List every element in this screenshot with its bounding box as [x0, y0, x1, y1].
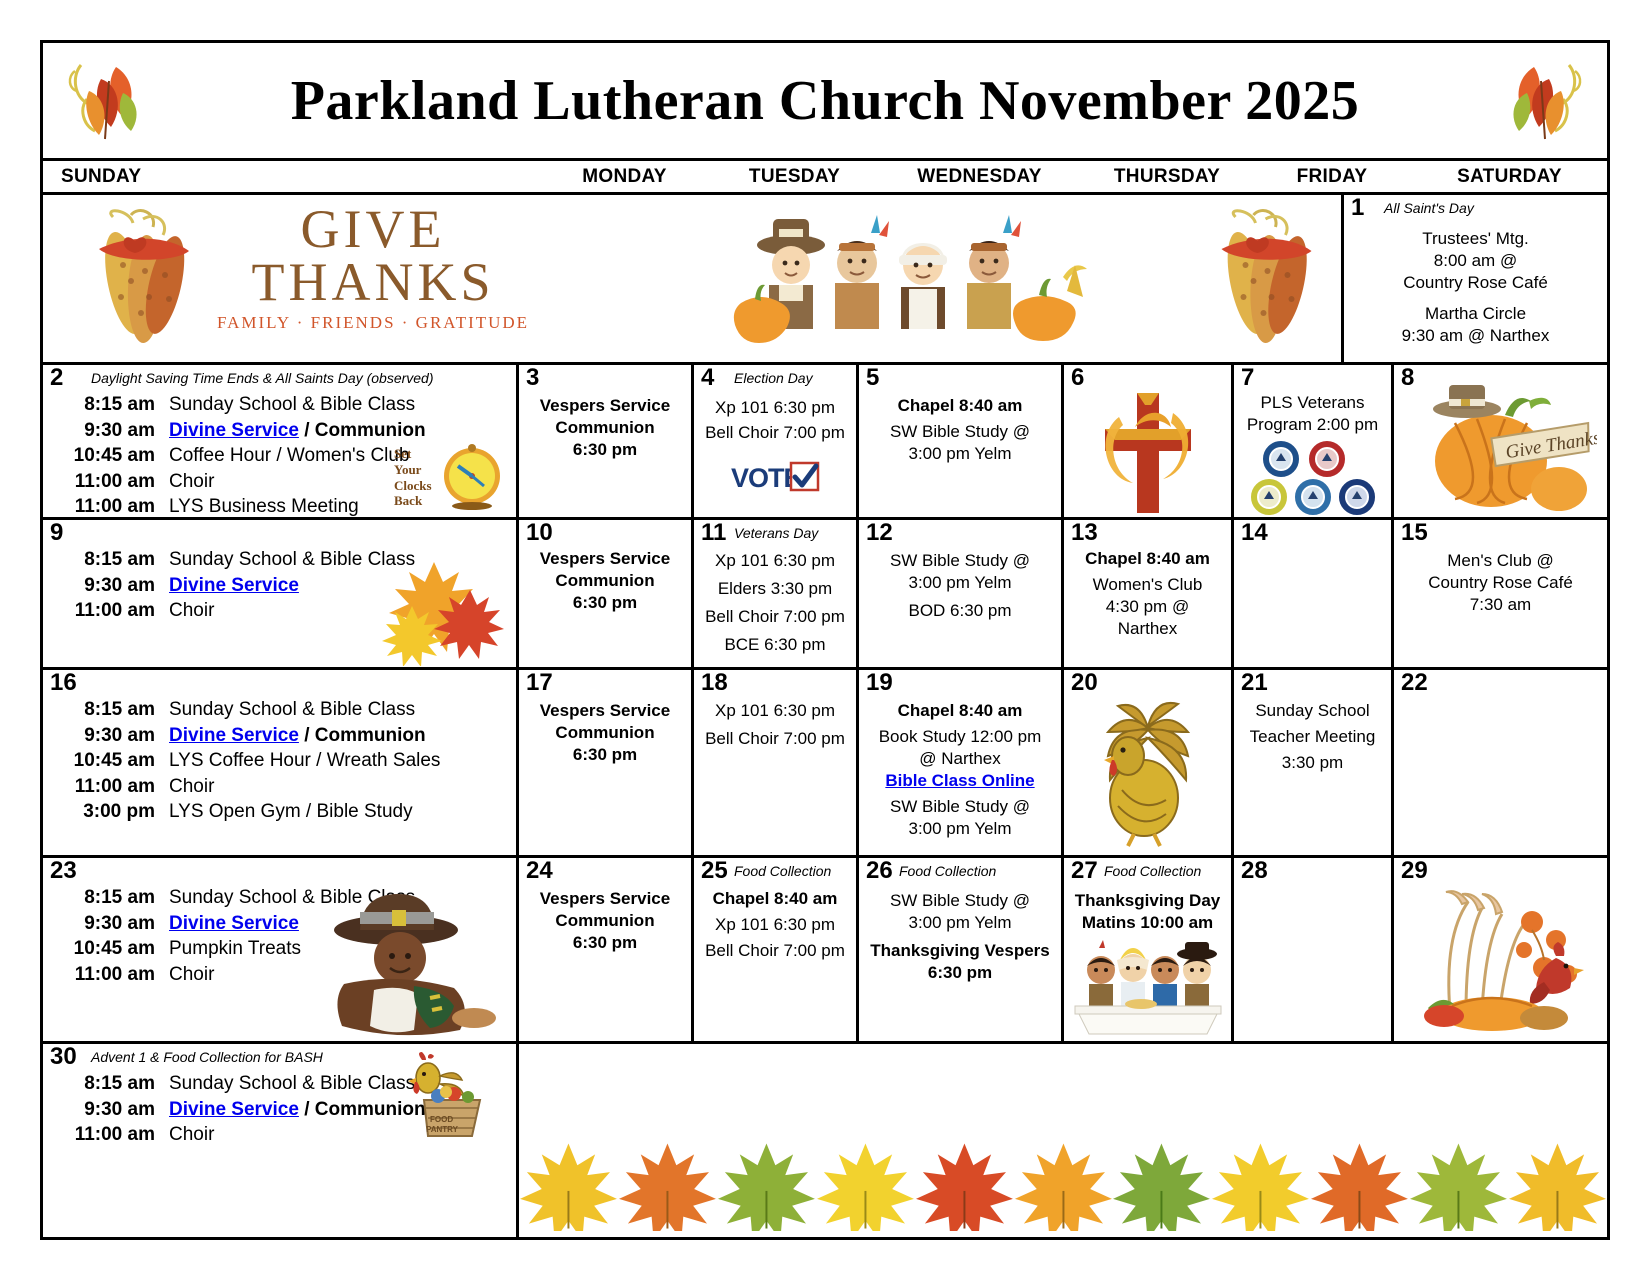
- weekday-header-thursday: THURSDAY: [1082, 161, 1252, 192]
- event-text: 3:00 pm Yelm: [859, 818, 1061, 841]
- day-cell-15[interactable]: 15 Men's Club @ Country Rose Café 7:30 a…: [1394, 520, 1607, 667]
- svg-text:Give Thanks: Give Thanks: [1504, 427, 1597, 463]
- event-text: Narthex: [1064, 618, 1231, 641]
- event-text: BOD 6:30 pm: [859, 600, 1061, 623]
- day-note: Daylight Saving Time Ends & All Saints D…: [91, 370, 434, 386]
- schedule-desc: LYS Coffee Hour / Wreath Sales: [169, 749, 508, 774]
- give-thanks-banner: GIVE THANKS FAMILY · FRIENDS · GRATITUDE: [208, 203, 538, 333]
- event-text: Xp 101 6:30 pm: [694, 550, 856, 573]
- divine-service-link[interactable]: Divine Service: [169, 1099, 299, 1120]
- indian-corn-icon: [83, 205, 203, 360]
- day-number: 23: [50, 859, 77, 883]
- day-note: Food Collection: [734, 863, 831, 879]
- day-schedule: 8:15 am Sunday School & Bible Class 9:30…: [43, 393, 516, 517]
- week-row: 23 8:15 am Sunday School & Bible Class 9…: [43, 858, 1607, 1044]
- day-number: 21: [1241, 671, 1268, 695]
- schedule-time: 8:15 am: [51, 548, 169, 573]
- event-text: 3:30 pm: [1234, 752, 1391, 775]
- day-cell-18[interactable]: 18 Xp 101 6:30 pm Bell Choir 7:00 pm: [694, 670, 859, 855]
- divine-service-link[interactable]: Divine Service: [169, 420, 299, 441]
- event-text: SW Bible Study @: [859, 890, 1061, 913]
- weekday-header-tuesday: TUESDAY: [712, 161, 877, 192]
- pilgrims-and-natives-icon: [733, 203, 1113, 362]
- weekday-header-friday: FRIDAY: [1252, 161, 1412, 192]
- day-number: 26: [866, 859, 893, 883]
- event-text: Vespers Service: [519, 700, 691, 723]
- bible-class-online-link[interactable]: Bible Class Online: [885, 771, 1034, 790]
- day-cell-23[interactable]: 23 8:15 am Sunday School & Bible Class 9…: [43, 858, 519, 1041]
- day-cell-6[interactable]: 6: [1064, 365, 1234, 517]
- banner-line-1: GIVE: [208, 203, 538, 256]
- schedule-time: 11:00 am: [51, 495, 169, 517]
- event-text: 6:30 pm: [519, 439, 691, 462]
- turkey-icon: [1088, 698, 1208, 853]
- event-text: SW Bible Study @: [859, 796, 1061, 819]
- event-text: Elders 3:30 pm: [694, 578, 856, 601]
- event-text: 6:30 pm: [519, 932, 691, 955]
- schedule-desc: LYS Open Gym / Bible Study: [169, 800, 508, 825]
- schedule-time: 11:00 am: [51, 599, 169, 624]
- give-thanks-banner-cell: GIVE THANKS FAMILY · FRIENDS · GRATITUDE: [43, 195, 1344, 362]
- schedule-time: 9:30 am: [51, 724, 169, 749]
- day-cell-5[interactable]: 5 Chapel 8:40 am SW Bible Study @ 3:00 p…: [859, 365, 1064, 517]
- schedule-row: 8:15 am Sunday School & Bible Class: [51, 548, 508, 573]
- event-text: @ Narthex: [859, 748, 1061, 771]
- event-text: Communion: [519, 570, 691, 593]
- weekday-header-sunday: SUNDAY: [43, 161, 537, 192]
- week-row: GIVE THANKS FAMILY · FRIENDS · GRATITUDE: [43, 195, 1607, 365]
- event-text: Vespers Service: [519, 395, 691, 418]
- day-schedule: 8:15 am Sunday School & Bible Class 9:30…: [43, 1072, 516, 1149]
- schedule-time: 10:45 am: [51, 937, 169, 962]
- schedule-suffix: / Communion: [299, 1099, 426, 1120]
- event-text: Thanksgiving Vespers: [859, 940, 1061, 963]
- event-text: 3:00 pm Yelm: [859, 443, 1061, 466]
- day-cell-21[interactable]: 21 Sunday School Teacher Meeting 3:30 pm: [1234, 670, 1394, 855]
- day-number: 12: [866, 521, 893, 545]
- day-cell-9[interactable]: 9 8:15 am Sunday School & Bible Class 9:…: [43, 520, 519, 667]
- schedule-desc: LYS Business Meeting: [169, 495, 508, 517]
- day-number: 25: [701, 859, 728, 883]
- schedule-time: 9:30 am: [51, 419, 169, 444]
- svg-text:VOTE: VOTE: [731, 463, 801, 493]
- schedule-time: 8:15 am: [51, 1072, 169, 1097]
- event-text: Martha Circle: [1344, 303, 1607, 326]
- schedule-desc: Coffee Hour / Women's Club: [169, 444, 508, 469]
- day-number: 8: [1401, 366, 1414, 390]
- event-text: Teacher Meeting: [1234, 726, 1391, 749]
- event-text: SW Bible Study @: [859, 421, 1061, 444]
- leaf-strip: [519, 1139, 1607, 1231]
- event-text: 8:00 am @: [1344, 250, 1607, 273]
- schedule-desc: Divine Service: [169, 574, 508, 599]
- day-cell-12[interactable]: 12 SW Bible Study @ 3:00 pm Yelm BOD 6:3…: [859, 520, 1064, 667]
- divine-service-link[interactable]: Divine Service: [169, 575, 299, 596]
- indian-corn-icon: [1203, 205, 1328, 360]
- day-number: 3: [526, 366, 539, 390]
- schedule-row: 9:30 am Divine Service: [51, 912, 508, 937]
- event-text: Communion: [519, 910, 691, 933]
- day-number: 28: [1241, 859, 1268, 883]
- week-row: 2 Daylight Saving Time Ends & All Saints…: [43, 365, 1607, 520]
- autumn-leaves-decoration-icon: [1479, 47, 1589, 155]
- day-cell-19[interactable]: 19 Chapel 8:40 am Book Study 12:00 pm @ …: [859, 670, 1064, 855]
- schedule-row: 11:00 am Choir: [51, 963, 508, 988]
- day-number: 10: [526, 521, 553, 545]
- schedule-time: 8:15 am: [51, 393, 169, 418]
- event-text: SW Bible Study @: [859, 550, 1061, 573]
- schedule-desc: Sunday School & Bible Class: [169, 886, 508, 911]
- event-text: 4:30 pm @: [1064, 596, 1231, 619]
- schedule-row: 9:30 am Divine Service: [51, 574, 508, 599]
- day-number: 18: [701, 671, 728, 695]
- event-text: Book Study 12:00 pm: [859, 726, 1061, 749]
- schedule-desc: Sunday School & Bible Class: [169, 393, 508, 418]
- schedule-desc: Sunday School & Bible Class: [169, 1072, 508, 1097]
- divine-service-link[interactable]: Divine Service: [169, 913, 299, 934]
- schedule-row: 11:00 am LYS Business Meeting: [51, 495, 508, 517]
- day-cell-25[interactable]: 25 Food Collection Chapel 8:40 am Xp 101…: [694, 858, 859, 1041]
- event-text: Chapel 8:40 am: [859, 700, 1061, 723]
- day-cell-3[interactable]: 3 Vespers Service Communion 6:30 pm: [519, 365, 694, 517]
- day-note: Veterans Day: [734, 525, 818, 541]
- schedule-desc: Pumpkin Treats: [169, 937, 508, 962]
- event-text: PLS Veterans: [1234, 392, 1391, 415]
- schedule-row: 9:30 am Divine Service / Communion: [51, 1098, 508, 1123]
- day-number: 20: [1071, 671, 1098, 695]
- schedule-desc: Divine Service / Communion: [169, 419, 508, 444]
- day-cell-8[interactable]: 8: [1394, 365, 1607, 517]
- schedule-time: 3:00 pm: [51, 800, 169, 825]
- day-number: 7: [1241, 366, 1254, 390]
- event-text: Communion: [519, 722, 691, 745]
- event-text: 6:30 pm: [519, 744, 691, 767]
- schedule-desc: Sunday School & Bible Class: [169, 548, 508, 573]
- banner-line-2: THANKS: [208, 256, 538, 309]
- day-number: 5: [866, 366, 879, 390]
- schedule-row: 9:30 am Divine Service / Communion: [51, 724, 508, 749]
- schedule-desc: Divine Service / Communion: [169, 1098, 508, 1123]
- event-text: Communion: [519, 417, 691, 440]
- cornucopia-cardinal-icon: [1406, 882, 1596, 1037]
- schedule-time: 8:15 am: [51, 698, 169, 723]
- schedule-time: 11:00 am: [51, 963, 169, 988]
- schedule-row: 9:30 am Divine Service / Communion: [51, 419, 508, 444]
- schedule-suffix: / Communion: [299, 725, 426, 746]
- schedule-row: 8:15 am Sunday School & Bible Class: [51, 886, 508, 911]
- calendar-title-bar: Parkland Lutheran Church November 2025: [43, 43, 1607, 161]
- event-text: Chapel 8:40 am: [694, 888, 856, 911]
- day-cell-7[interactable]: 7 PLS Veterans Program 2:00 pm: [1234, 365, 1394, 517]
- schedule-time: 8:15 am: [51, 886, 169, 911]
- day-cell-14[interactable]: 14: [1234, 520, 1394, 667]
- schedule-row: 8:15 am Sunday School & Bible Class: [51, 393, 508, 418]
- autumn-leaves-footer-strip: [519, 1044, 1607, 1237]
- day-cell-20[interactable]: 20: [1064, 670, 1234, 855]
- day-cell-27[interactable]: 27 Food Collection Thanksgiving Day Mati…: [1064, 858, 1234, 1041]
- event-text: BCE 6:30 pm: [694, 634, 856, 657]
- day-number: 1: [1351, 196, 1364, 220]
- schedule-desc: Divine Service: [169, 912, 508, 937]
- week-row: 16 8:15 am Sunday School & Bible Class 9…: [43, 670, 1607, 858]
- event-text: Bell Choir 7:00 pm: [694, 940, 856, 963]
- event-text: Xp 101 6:30 pm: [694, 914, 856, 937]
- day-number: 14: [1241, 521, 1268, 545]
- schedule-desc: Choir: [169, 1123, 508, 1148]
- day-cell-10[interactable]: 10 Vespers Service Communion 6:30 pm: [519, 520, 694, 667]
- day-number: 9: [50, 521, 63, 545]
- schedule-row: 11:00 am Choir: [51, 599, 508, 624]
- event-text: Chapel 8:40 am: [859, 395, 1061, 418]
- calendar-page: Parkland Lutheran Church November 2025 S…: [0, 0, 1650, 1275]
- day-cell-22[interactable]: 22: [1394, 670, 1607, 855]
- day-number: 4: [701, 366, 714, 390]
- schedule-row: 11:00 am Choir: [51, 775, 508, 800]
- event-text: 6:30 pm: [859, 962, 1061, 985]
- schedule-desc: Sunday School & Bible Class: [169, 698, 508, 723]
- day-note: Election Day: [734, 370, 813, 386]
- schedule-desc: Divine Service / Communion: [169, 724, 508, 749]
- day-number: 22: [1401, 671, 1428, 695]
- schedule-time: 9:30 am: [51, 574, 169, 599]
- schedule-row: 10:45 am LYS Coffee Hour / Wreath Sales: [51, 749, 508, 774]
- schedule-time: 11:00 am: [51, 1123, 169, 1148]
- thanksgiving-table-icon: [1073, 940, 1223, 1041]
- weekday-header-monday: MONDAY: [537, 161, 712, 192]
- day-note: Food Collection: [899, 863, 996, 879]
- military-seals-icon: [1247, 439, 1379, 517]
- day-number: 15: [1401, 521, 1428, 545]
- divine-service-link[interactable]: Divine Service: [169, 725, 299, 746]
- day-cell-11[interactable]: 11 Veterans Day Xp 101 6:30 pm Elders 3:…: [694, 520, 859, 667]
- schedule-desc: Choir: [169, 775, 508, 800]
- day-number: 6: [1071, 366, 1084, 390]
- autumn-leaves-decoration-icon: [61, 47, 171, 155]
- calendar: Parkland Lutheran Church November 2025 S…: [40, 40, 1610, 1240]
- day-cell-24[interactable]: 24 Vespers Service Communion 6:30 pm: [519, 858, 694, 1041]
- schedule-suffix: / Communion: [299, 420, 426, 441]
- schedule-desc: Choir: [169, 599, 508, 624]
- schedule-time: 11:00 am: [51, 775, 169, 800]
- day-cell-1[interactable]: 1 All Saint's Day Trustees' Mtg. 8:00 am…: [1344, 195, 1607, 362]
- bible-class-online-link-row: Bible Class Online: [859, 770, 1061, 793]
- schedule-time: 11:00 am: [51, 470, 169, 495]
- event-text: 3:00 pm Yelm: [859, 572, 1061, 595]
- week-row: 9 8:15 am Sunday School & Bible Class 9:…: [43, 520, 1607, 670]
- schedule-time: 9:30 am: [51, 912, 169, 937]
- event-text: 3:00 pm Yelm: [859, 912, 1061, 935]
- event-text: Vespers Service: [519, 888, 691, 911]
- schedule-row: 10:45 am Pumpkin Treats: [51, 937, 508, 962]
- day-cell-13[interactable]: 13 Chapel 8:40 am Women's Club 4:30 pm @…: [1064, 520, 1234, 667]
- event-text: Bell Choir 7:00 pm: [694, 422, 856, 445]
- schedule-row: 11:00 am Choir: [51, 1123, 508, 1148]
- schedule-row: 11:00 am Choir: [51, 470, 508, 495]
- day-number: 19: [866, 671, 893, 695]
- day-schedule: 8:15 am Sunday School & Bible Class 9:30…: [43, 548, 516, 625]
- vote-checkbox-icon: VOTE: [729, 457, 821, 504]
- day-number: 11: [701, 521, 726, 545]
- day-cell-4[interactable]: 4 Election Day Xp 101 6:30 pm Bell Choir…: [694, 365, 859, 517]
- day-number: 24: [526, 859, 553, 883]
- day-cell-26[interactable]: 26 Food Collection SW Bible Study @ 3:00…: [859, 858, 1064, 1041]
- day-cell-28[interactable]: 28: [1234, 858, 1394, 1041]
- day-schedule: 8:15 am Sunday School & Bible Class 9:30…: [43, 886, 516, 988]
- event-text: Trustees' Mtg.: [1344, 228, 1607, 251]
- weekday-header-saturday: SATURDAY: [1412, 161, 1607, 192]
- schedule-row: 8:15 am Sunday School & Bible Class: [51, 698, 508, 723]
- day-cell-2[interactable]: 2 Daylight Saving Time Ends & All Saints…: [43, 365, 519, 517]
- banner-line-3: FAMILY · FRIENDS · GRATITUDE: [208, 313, 538, 333]
- event-text: Xp 101 6:30 pm: [694, 700, 856, 723]
- schedule-time: 10:45 am: [51, 749, 169, 774]
- event-text: 6:30 pm: [519, 592, 691, 615]
- event-text: Program 2:00 pm: [1234, 414, 1391, 437]
- pumpkin-give-thanks-sign-icon: Give Thanks: [1405, 383, 1597, 517]
- day-number: 16: [50, 671, 77, 695]
- day-note: Advent 1 & Food Collection for BASH: [91, 1049, 323, 1065]
- page-title: Parkland Lutheran Church November 2025: [291, 69, 1360, 133]
- day-schedule: 8:15 am Sunday School & Bible Class 9:30…: [43, 698, 516, 826]
- event-text: Men's Club @: [1394, 550, 1607, 573]
- weekday-header-wednesday: WEDNESDAY: [877, 161, 1082, 192]
- weekday-header-row: SUNDAY MONDAY TUESDAY WEDNESDAY THURSDAY…: [43, 161, 1607, 195]
- day-number: 17: [526, 671, 553, 695]
- day-number: 29: [1401, 859, 1428, 883]
- schedule-time: 9:30 am: [51, 1098, 169, 1123]
- day-cell-16[interactable]: 16 8:15 am Sunday School & Bible Class 9…: [43, 670, 519, 855]
- day-cell-29[interactable]: 29: [1394, 858, 1607, 1041]
- day-number: 13: [1071, 521, 1098, 545]
- schedule-desc: Choir: [169, 470, 508, 495]
- event-text: Matins 10:00 am: [1064, 912, 1231, 935]
- event-text: Women's Club: [1064, 574, 1231, 597]
- schedule-desc: Choir: [169, 963, 508, 988]
- event-text: Bell Choir 7:00 pm: [694, 606, 856, 629]
- event-text: Country Rose Café: [1344, 272, 1607, 295]
- schedule-row: 3:00 pm LYS Open Gym / Bible Study: [51, 800, 508, 825]
- event-text: 9:30 am @ Narthex: [1344, 325, 1607, 348]
- day-cell-30[interactable]: 30 Advent 1 & Food Collection for BASH 8…: [43, 1044, 519, 1237]
- day-note: All Saint's Day: [1384, 200, 1474, 216]
- day-number: 2: [50, 366, 63, 390]
- event-text: Country Rose Café: [1394, 572, 1607, 595]
- event-text: 7:30 am: [1394, 594, 1607, 617]
- cross-icon: [1089, 387, 1207, 517]
- schedule-row: 8:15 am Sunday School & Bible Class: [51, 1072, 508, 1097]
- schedule-time: 10:45 am: [51, 444, 169, 469]
- event-text: Thanksgiving Day: [1064, 890, 1231, 913]
- event-text: Sunday School: [1234, 700, 1391, 723]
- day-cell-17[interactable]: 17 Vespers Service Communion 6:30 pm: [519, 670, 694, 855]
- day-note: Food Collection: [1104, 863, 1201, 879]
- week-row: 30 Advent 1 & Food Collection for BASH 8…: [43, 1044, 1607, 1237]
- event-text: Xp 101 6:30 pm: [694, 397, 856, 420]
- day-number: 30: [50, 1045, 77, 1069]
- day-number: 27: [1071, 859, 1098, 883]
- event-text: Chapel 8:40 am: [1064, 548, 1231, 571]
- schedule-row: 10:45 am Coffee Hour / Women's Club: [51, 444, 508, 469]
- calendar-body: GIVE THANKS FAMILY · FRIENDS · GRATITUDE: [43, 195, 1607, 1237]
- event-text: Bell Choir 7:00 pm: [694, 728, 856, 751]
- event-text: Vespers Service: [519, 548, 691, 571]
